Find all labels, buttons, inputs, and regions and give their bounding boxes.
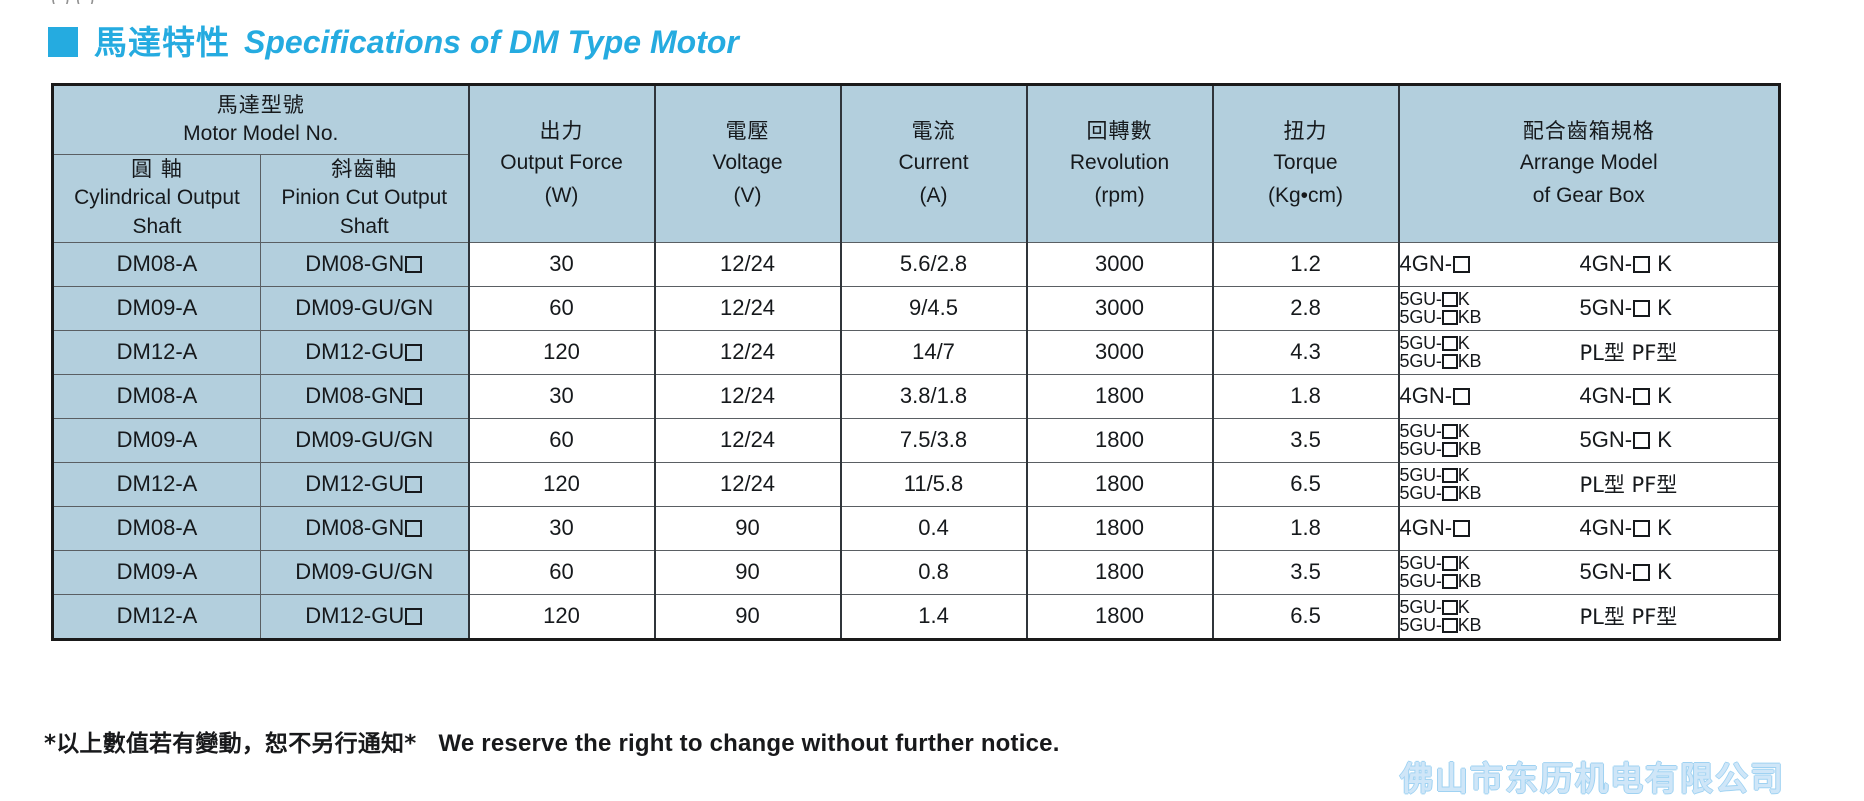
placeholder-box-icon [1442,468,1458,483]
gearbox-right: 4GN- K [1578,383,1779,409]
cell-torque: 3.5 [1213,550,1399,594]
placeholder-box-icon [1453,256,1470,273]
gearbox-left-line: 5GU-KB [1400,352,1578,370]
gearbox-left-line: 5GU-KB [1400,572,1578,590]
cell-gearbox-model: 4GN-4GN- K [1399,374,1780,418]
gearbox-inner: 5GU-K5GU-KBPL型 PF型 [1400,598,1779,635]
gearbox-right-label: 5GN- K [1580,295,1672,320]
cell-revolution: 1800 [1027,418,1213,462]
cell-voltage: 90 [655,506,841,550]
header-output-force-en: Output Force [470,147,654,180]
placeholder-box-icon [1442,336,1458,351]
gearbox-right: PL型 PF型 [1578,469,1779,499]
table-row: DM12-ADM12-GU12012/2414/730004.35GU-K5GU… [53,330,1780,374]
cell-output-force: 120 [469,330,655,374]
gearbox-left-line: 5GU-KB [1400,440,1578,458]
placeholder-box-icon [1442,618,1458,633]
gearbox-left-stack: 5GU-K5GU-KB [1400,466,1578,503]
placeholder-box-icon [1442,292,1458,307]
cell-gearbox-model: 5GU-K5GU-KB5GN- K [1399,418,1780,462]
gearbox-left: 5GU-K5GU-KB [1400,422,1578,459]
cell-pinion-model: DM09-GU/GN [261,286,469,330]
cell-output-force: 120 [469,594,655,639]
header-gearbox-en2: of Gear Box [1400,180,1779,213]
placeholder-box-icon [405,388,422,405]
header-output-force-cn: 出力 [470,115,654,148]
disclaimer-note: *以上數值若有變動，恕不另行通知*We reserve the right to… [44,724,1060,758]
cell-revolution: 1800 [1027,594,1213,639]
cell-current: 11/5.8 [841,462,1027,506]
header-current: 電流 Current (A) [841,85,1027,243]
cell-pinion-model: DM09-GU/GN [261,550,469,594]
gearbox-inner: 5GU-K5GU-KBPL型 PF型 [1400,466,1779,503]
placeholder-box-icon [405,256,422,273]
header-motor-model-group: 馬達型號 Motor Model No. [53,85,469,155]
cell-current: 0.4 [841,506,1027,550]
placeholder-box-icon [405,344,422,361]
header-voltage-unit: (V) [656,180,840,213]
cell-voltage: 12/24 [655,330,841,374]
gearbox-left-line: 4GN- [1400,251,1472,276]
cell-gearbox-model: 5GU-K5GU-KBPL型 PF型 [1399,594,1780,639]
table-row: DM08-ADM08-GN3012/243.8/1.818001.84GN-4G… [53,374,1780,418]
cell-revolution: 1800 [1027,506,1213,550]
placeholder-box-icon [1633,300,1650,317]
cell-torque: 1.2 [1213,242,1399,286]
cell-voltage: 90 [655,594,841,639]
header-gearbox-cn: 配合齒箱規格 [1400,115,1779,148]
cell-revolution: 3000 [1027,330,1213,374]
header-cylindrical-shaft: 圓 軸 Cylindrical Output Shaft [53,155,261,243]
cell-torque: 4.3 [1213,330,1399,374]
cell-output-force: 30 [469,242,655,286]
table-body: DM08-ADM08-GN3012/245.6/2.830001.24GN-4G… [53,242,1780,639]
cell-output-force: 30 [469,506,655,550]
cell-cylindrical-model: DM09-A [53,286,261,330]
gearbox-left: 5GU-K5GU-KB [1400,290,1578,327]
placeholder-box-icon [1453,520,1470,537]
header-cylindrical-shaft-cn: 圓 軸 [54,155,260,184]
cell-voltage: 12/24 [655,462,841,506]
placeholder-box-icon [405,476,422,493]
gearbox-left-stack: 5GU-K5GU-KB [1400,598,1578,635]
company-watermark: 佛山市东历机电有限公司 [1400,752,1785,800]
gearbox-left: 4GN- [1400,251,1578,277]
cell-current: 5.6/2.8 [841,242,1027,286]
gearbox-right-label: 5GN- K [1580,559,1672,584]
header-torque-cn: 扭力 [1214,115,1398,148]
header-torque: 扭力 Torque (Kg•cm) [1213,85,1399,243]
header-voltage-cn: 電壓 [656,115,840,148]
cell-output-force: 60 [469,286,655,330]
page-top-cutoff-text: ( ) ( ) [51,0,1251,4]
gearbox-right-label: 4GN- K [1580,515,1672,540]
cell-torque: 1.8 [1213,374,1399,418]
gearbox-right-label: PL型 PF型 [1580,473,1678,497]
cell-current: 3.8/1.8 [841,374,1027,418]
cell-pinion-model: DM12-GU [261,330,469,374]
specifications-table: 馬達型號 Motor Model No. 出力 Output Force (W)… [51,83,1781,641]
header-output-force-unit: (W) [470,180,654,213]
section-title: 馬達特性 Specifications of DM Type Motor [48,20,739,64]
cell-voltage: 90 [655,550,841,594]
placeholder-box-icon [1442,600,1458,615]
gearbox-left-stack: 5GU-K5GU-KB [1400,290,1578,327]
gearbox-left: 5GU-K5GU-KB [1400,466,1578,503]
header-revolution-unit: (rpm) [1028,180,1212,213]
placeholder-box-icon [1442,486,1458,501]
gearbox-left-line: 5GU-KB [1400,308,1578,326]
cell-current: 1.4 [841,594,1027,639]
cell-gearbox-model: 5GU-K5GU-KBPL型 PF型 [1399,330,1780,374]
cell-output-force: 30 [469,374,655,418]
placeholder-box-icon [1633,520,1650,537]
cell-cylindrical-model: DM12-A [53,594,261,639]
header-cylindrical-shaft-en: Cylindrical Output Shaft [54,184,260,242]
cell-current: 14/7 [841,330,1027,374]
placeholder-box-icon [1442,556,1458,571]
gearbox-left-line: 5GU-K [1400,422,1578,440]
placeholder-box-icon [1442,424,1458,439]
header-revolution-en: Revolution [1028,147,1212,180]
placeholder-box-icon [1442,354,1458,369]
cell-gearbox-model: 5GU-K5GU-KB5GN- K [1399,286,1780,330]
cell-gearbox-model: 4GN-4GN- K [1399,506,1780,550]
disclaimer-note-en: We reserve the right to change without f… [438,730,1059,757]
gearbox-inner: 4GN-4GN- K [1400,383,1779,409]
placeholder-box-icon [1633,564,1650,581]
cell-cylindrical-model: DM12-A [53,462,261,506]
cell-pinion-model: DM12-GU [261,462,469,506]
placeholder-box-icon [405,520,422,537]
gearbox-inner: 5GU-K5GU-KBPL型 PF型 [1400,334,1779,371]
cell-torque: 6.5 [1213,594,1399,639]
gearbox-inner: 4GN-4GN- K [1400,515,1779,541]
cell-cylindrical-model: DM12-A [53,330,261,374]
gearbox-right: 5GN- K [1578,427,1779,453]
header-pinion-shaft-en: Pinion Cut Output Shaft [261,184,468,242]
cell-cylindrical-model: DM08-A [53,242,261,286]
gearbox-right-label: PL型 PF型 [1580,341,1678,365]
cell-torque: 6.5 [1213,462,1399,506]
cell-gearbox-model: 4GN-4GN- K [1399,242,1780,286]
gearbox-right-label: 4GN- K [1580,251,1672,276]
placeholder-box-icon [405,608,422,625]
cell-torque: 3.5 [1213,418,1399,462]
gearbox-right: 5GN- K [1578,295,1779,321]
gearbox-right: 4GN- K [1578,251,1779,277]
header-motor-model-en: Motor Model No. [54,120,468,149]
gearbox-right: PL型 PF型 [1578,337,1779,367]
gearbox-left-line: 5GU-K [1400,334,1578,352]
header-voltage: 電壓 Voltage (V) [655,85,841,243]
header-current-unit: (A) [842,180,1026,213]
header-pinion-shaft-cn: 斜齒軸 [261,155,468,184]
gearbox-left: 4GN- [1400,383,1578,409]
gearbox-left-line: 4GN- [1400,383,1472,408]
specifications-table-container: 馬達型號 Motor Model No. 出力 Output Force (W)… [51,83,1778,641]
cell-cylindrical-model: DM09-A [53,418,261,462]
cell-voltage: 12/24 [655,286,841,330]
cell-revolution: 1800 [1027,550,1213,594]
header-revolution: 回轉數 Revolution (rpm) [1027,85,1213,243]
table-row: DM09-ADM09-GU/GN6012/247.5/3.818003.55GU… [53,418,1780,462]
gearbox-inner: 5GU-K5GU-KB5GN- K [1400,422,1779,459]
cell-output-force: 60 [469,550,655,594]
cell-torque: 1.8 [1213,506,1399,550]
cell-revolution: 1800 [1027,374,1213,418]
table-row: DM08-ADM08-GN30900.418001.84GN-4GN- K [53,506,1780,550]
table-header: 馬達型號 Motor Model No. 出力 Output Force (W)… [53,85,1780,243]
gearbox-right-label: PL型 PF型 [1580,605,1678,629]
placeholder-box-icon [1633,256,1650,273]
cell-current: 9/4.5 [841,286,1027,330]
gearbox-left-line: 5GU-K [1400,466,1578,484]
header-gearbox-en1: Arrange Model [1400,147,1779,180]
gearbox-left-stack: 5GU-K5GU-KB [1400,554,1578,591]
gearbox-left-line: 5GU-KB [1400,616,1578,634]
table-row: DM08-ADM08-GN3012/245.6/2.830001.24GN-4G… [53,242,1780,286]
placeholder-box-icon [1633,432,1650,449]
placeholder-box-icon [1453,388,1470,405]
cell-output-force: 60 [469,418,655,462]
cell-cylindrical-model: DM09-A [53,550,261,594]
gearbox-left-stack: 5GU-K5GU-KB [1400,334,1578,371]
square-bullet-icon [48,27,78,57]
gearbox-right: 5GN- K [1578,559,1779,585]
section-title-en: Specifications of DM Type Motor [244,26,739,58]
gearbox-left-line: 5GU-K [1400,554,1578,572]
gearbox-left: 5GU-K5GU-KB [1400,598,1578,635]
gearbox-right: PL型 PF型 [1578,601,1779,631]
gearbox-left: 5GU-K5GU-KB [1400,334,1578,371]
gearbox-left-line: 5GU-KB [1400,484,1578,502]
cell-voltage: 12/24 [655,242,841,286]
cell-voltage: 12/24 [655,374,841,418]
cell-torque: 2.8 [1213,286,1399,330]
cell-current: 7.5/3.8 [841,418,1027,462]
cell-pinion-model: DM08-GN [261,374,469,418]
gearbox-left-line: 5GU-K [1400,290,1578,308]
gearbox-right: 4GN- K [1578,515,1779,541]
header-current-en: Current [842,147,1026,180]
placeholder-box-icon [1442,310,1458,325]
table-row: DM12-ADM12-GU120901.418006.55GU-K5GU-KBP… [53,594,1780,639]
header-torque-unit: (Kg•cm) [1214,180,1398,213]
gearbox-inner: 5GU-K5GU-KB5GN- K [1400,554,1779,591]
placeholder-box-icon [1633,388,1650,405]
gearbox-inner: 5GU-K5GU-KB5GN- K [1400,290,1779,327]
cell-gearbox-model: 5GU-K5GU-KB5GN- K [1399,550,1780,594]
cell-revolution: 1800 [1027,462,1213,506]
gearbox-left-line: 4GN- [1400,515,1472,540]
header-revolution-cn: 回轉數 [1028,115,1212,148]
header-motor-model-cn: 馬達型號 [54,91,468,120]
gearbox-left: 5GU-K5GU-KB [1400,554,1578,591]
placeholder-box-icon [1442,574,1458,589]
header-voltage-en: Voltage [656,147,840,180]
cell-pinion-model: DM08-GN [261,242,469,286]
header-pinion-shaft: 斜齒軸 Pinion Cut Output Shaft [261,155,469,243]
cell-cylindrical-model: DM08-A [53,374,261,418]
table-row: DM09-ADM09-GU/GN60900.818003.55GU-K5GU-K… [53,550,1780,594]
cell-pinion-model: DM09-GU/GN [261,418,469,462]
disclaimer-note-cn: *以上數值若有變動，恕不另行通知* [44,731,416,757]
cell-revolution: 3000 [1027,286,1213,330]
placeholder-box-icon [1442,442,1458,457]
header-output-force: 出力 Output Force (W) [469,85,655,243]
header-current-cn: 電流 [842,115,1026,148]
cell-pinion-model: DM08-GN [261,506,469,550]
cell-output-force: 120 [469,462,655,506]
table-row: DM09-ADM09-GU/GN6012/249/4.530002.85GU-K… [53,286,1780,330]
gearbox-left: 4GN- [1400,515,1578,541]
table-row: DM12-ADM12-GU12012/2411/5.818006.55GU-K5… [53,462,1780,506]
cell-revolution: 3000 [1027,242,1213,286]
section-title-cn: 馬達特性 [94,26,230,59]
cell-pinion-model: DM12-GU [261,594,469,639]
cell-voltage: 12/24 [655,418,841,462]
gearbox-inner: 4GN-4GN- K [1400,251,1779,277]
cell-gearbox-model: 5GU-K5GU-KBPL型 PF型 [1399,462,1780,506]
header-gearbox: 配合齒箱規格 Arrange Model of Gear Box [1399,85,1780,243]
gearbox-right-label: 4GN- K [1580,383,1672,408]
header-torque-en: Torque [1214,147,1398,180]
gearbox-left-stack: 5GU-K5GU-KB [1400,422,1578,459]
cell-cylindrical-model: DM08-A [53,506,261,550]
gearbox-left-line: 5GU-K [1400,598,1578,616]
cell-current: 0.8 [841,550,1027,594]
gearbox-right-label: 5GN- K [1580,427,1672,452]
